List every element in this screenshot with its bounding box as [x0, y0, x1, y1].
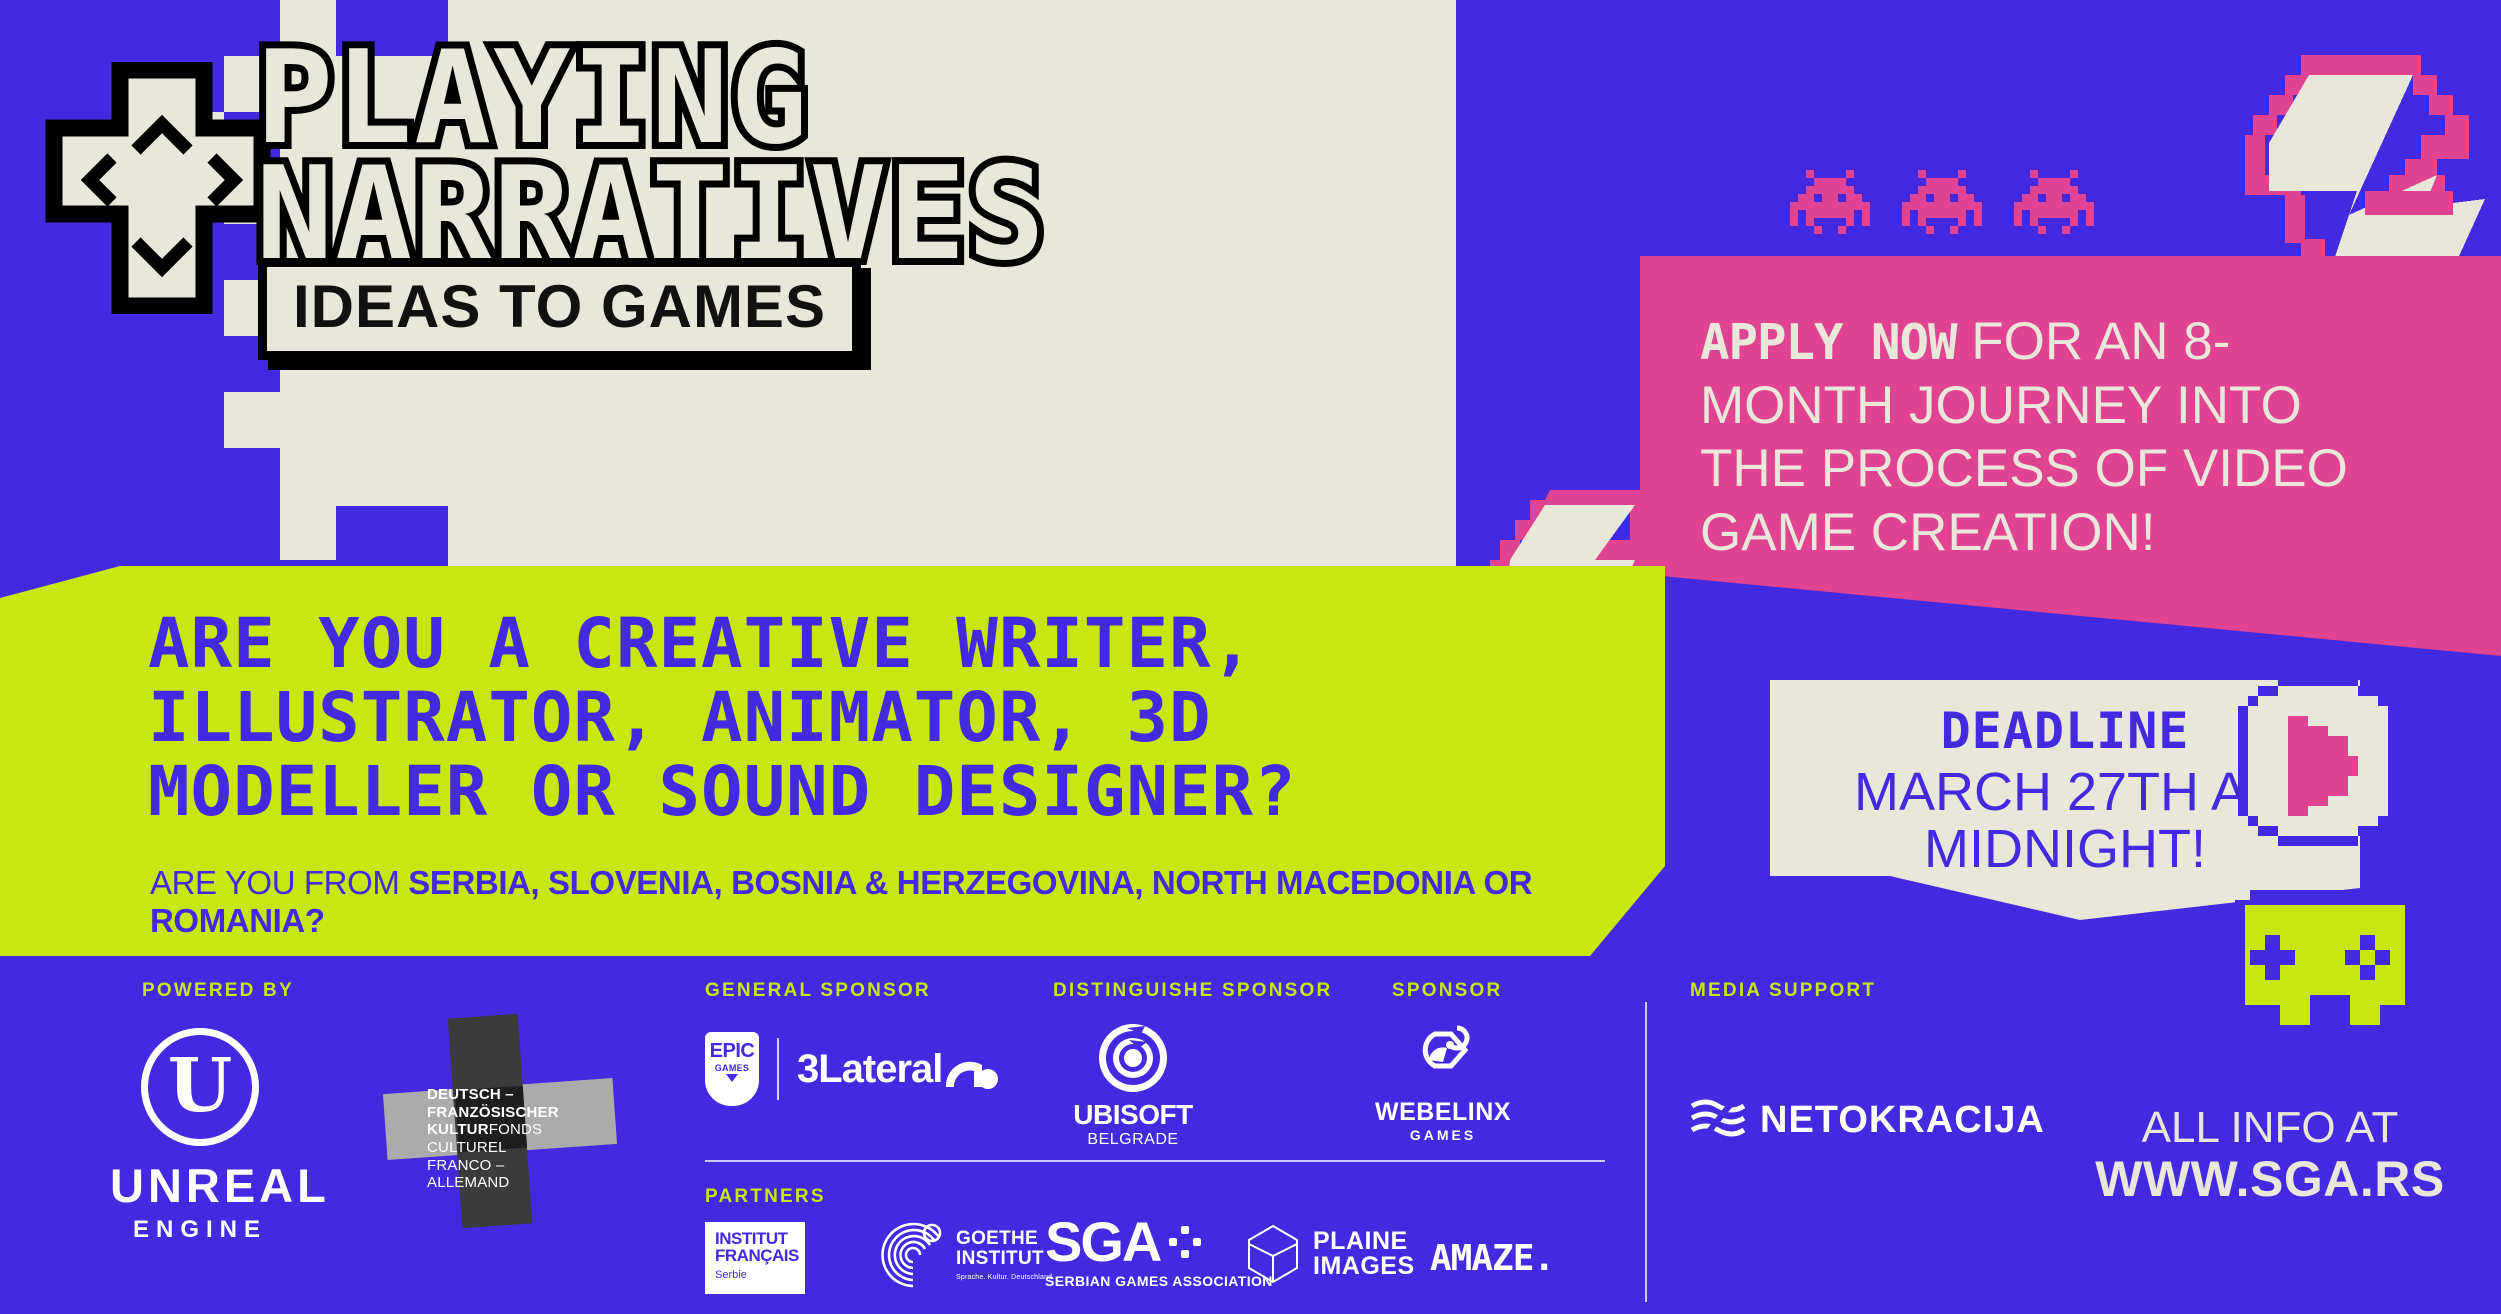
kf-line-5: FRANCO – — [427, 1157, 607, 1175]
subtitle-box: IDEAS TO GAMES — [258, 258, 861, 360]
kf-line-3: KULTURFONDS — [427, 1121, 607, 1139]
epic-divider — [777, 1038, 779, 1100]
kulturfonds-logo: DEUTSCH – FRANZÖSISCHER KULTURFONDS CULT… — [385, 1016, 615, 1236]
play-button-icon — [2218, 666, 2418, 871]
amaze-logo: AMAZE. — [1430, 1238, 1554, 1279]
info-line-1: ALL INFO AT — [2080, 1104, 2460, 1152]
ubisoft-sub: BELGRADE — [1063, 1131, 1203, 1149]
partners-label: PARTNERS — [705, 1186, 826, 1208]
epic-games-logo: EPIC GAMES — [705, 1032, 759, 1106]
netokracija-logo: NETOKRACIJA — [1688, 1096, 2045, 1144]
kf-line-3a: KULTUR — [427, 1121, 489, 1138]
general-sponsor-label: GENERAL SPONSOR — [705, 980, 931, 1002]
target-audience-heading: ARE YOU A CREATIVE WRITER, ILLUSTRATOR, … — [148, 608, 1588, 829]
kf-line-2: FRANZÖSISCHER — [427, 1104, 607, 1122]
netokracija-name: NETOKRACIJA — [1760, 1099, 2045, 1142]
sga-sub: SERBIAN GAMES ASSOCIATION — [1045, 1273, 1273, 1289]
unreal-ring-icon: U — [141, 1028, 259, 1146]
apply-now-emphasis: APPLY NOW — [1700, 314, 1957, 371]
kulturfonds-text: DEUTSCH – FRANZÖSISCHER KULTURFONDS CULT… — [427, 1086, 607, 1192]
title-line-1: PLAYING — [256, 44, 1366, 154]
institut-francais-logo: INSTITUT FRANÇAIS Serbie — [705, 1222, 805, 1294]
kf-line-6: ALLEMAND — [427, 1174, 607, 1192]
plaine-images-logo: PLAINE IMAGES — [1245, 1224, 1415, 1284]
epic-name: EPIC — [705, 1032, 759, 1063]
epic-sub: GAMES — [705, 1063, 759, 1073]
unreal-engine-logo: U UNREAL ENGINE — [110, 1028, 290, 1244]
ubisoft-logo: UBISOFT BELGRADE — [1063, 1022, 1203, 1149]
unreal-name: UNREAL — [110, 1158, 290, 1213]
distinguished-sponsor-label: DISTINGUISHE SPONSOR — [1053, 980, 1332, 1002]
sga-dpad-icon — [1168, 1225, 1202, 1259]
kf-line-1: DEUTSCH – — [427, 1086, 607, 1104]
page-title: PLAYING NARRATIVES — [256, 44, 1366, 270]
powered-by-label: POWERED BY — [142, 980, 294, 1002]
webelinx-logo: WEBELINX GAMES — [1358, 1018, 1528, 1143]
three-lateral-mark — [942, 1047, 1000, 1091]
all-info-block: ALL INFO AT WWW.SGA.RS — [2080, 1104, 2460, 1206]
if-line-3: Serbie — [715, 1269, 795, 1281]
poster-canvas: PLAYING NARRATIVES IDEAS TO GAMES — [0, 0, 2501, 1314]
if-line-1: INSTITUT — [715, 1230, 795, 1247]
space-invaders-decoration — [1790, 170, 2126, 234]
title-line-2: NARRATIVES — [256, 160, 1366, 270]
sga-name: SGA — [1045, 1214, 1160, 1270]
kf-line-4: CULTUREL — [427, 1139, 607, 1157]
target-audience-subheading: ARE YOU FROM SERBIA, SLOVENIA, BOSNIA & … — [150, 864, 1550, 940]
ubisoft-swirl-icon — [1097, 1022, 1169, 1094]
unreal-u-mark: U — [148, 1049, 252, 1123]
unreal-sub: ENGINE — [110, 1216, 290, 1244]
sga-logo: SGA SERBIAN GAMES ASSOCIATION — [1045, 1214, 1273, 1289]
dpad-icon — [42, 62, 282, 314]
subtitle-text: IDEAS TO GAMES — [293, 273, 826, 340]
webelinx-sub: GAMES — [1358, 1127, 1528, 1143]
footer: POWERED BY U UNREAL ENGINE DEUTSCH – FRA… — [0, 956, 2501, 1314]
plaine-line-1: PLAINE — [1313, 1229, 1415, 1255]
goethe-line-3: Sprache. Kultur. Deutschland. — [956, 1274, 1054, 1281]
goethe-line-1: GOETHE — [956, 1229, 1054, 1249]
three-lateral-name: 3Lateral — [797, 1047, 942, 1092]
goethe-institut-logo: GOETHE INSTITUT Sprache. Kultur. Deutsch… — [880, 1222, 1054, 1288]
partners-divider — [705, 1160, 1605, 1162]
epic-3lateral-logo: EPIC GAMES 3Lateral — [705, 1032, 1000, 1106]
netokracija-wave-icon — [1688, 1096, 1746, 1144]
goethe-line-2: INSTITUT — [956, 1249, 1054, 1269]
info-line-2: WWW.SGA.RS — [2080, 1152, 2460, 1206]
plaine-polyhedron-icon — [1245, 1224, 1301, 1284]
webelinx-bird-icon — [1405, 1018, 1481, 1094]
plaine-line-2: IMAGES — [1313, 1254, 1415, 1280]
ubisoft-name: UBISOFT — [1063, 1099, 1203, 1131]
countries-lead: ARE YOU FROM — [150, 864, 408, 901]
if-line-2: FRANÇAIS — [715, 1247, 795, 1264]
webelinx-name: WEBELINX — [1358, 1098, 1528, 1127]
kf-line-3b: FONDS — [489, 1121, 543, 1138]
goethe-spiral-icon — [880, 1222, 946, 1288]
media-support-label: MEDIA SUPPORT — [1690, 980, 1876, 1002]
apply-now-text: APPLY NOW FOR AN 8-MONTH JOURNEY INTO TH… — [1700, 310, 2360, 564]
sponsor-label: SPONSOR — [1392, 980, 1502, 1002]
media-divider — [1645, 1002, 1647, 1302]
